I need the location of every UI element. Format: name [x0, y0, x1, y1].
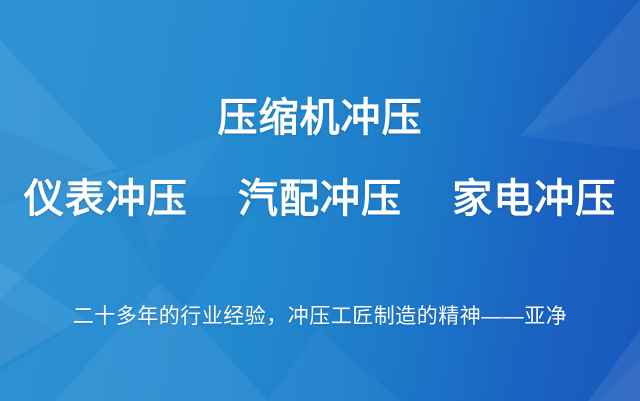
- banner-subline: 仪表冲压 汽配冲压 家电冲压: [0, 177, 640, 222]
- banner-tagline: 二十多年的行业经验，冲压工匠制造的精神——亚净: [0, 303, 640, 330]
- banner-content: 压缩机冲压 仪表冲压 汽配冲压 家电冲压 二十多年的行业经验，冲压工匠制造的精神…: [0, 0, 640, 401]
- subline-item-2: 汽配冲压: [238, 177, 402, 221]
- subline-item-1: 仪表冲压: [24, 177, 188, 221]
- banner-headline: 压缩机冲压: [0, 96, 640, 141]
- promo-banner: 压缩机冲压 仪表冲压 汽配冲压 家电冲压 二十多年的行业经验，冲压工匠制造的精神…: [0, 0, 640, 401]
- subline-item-3: 家电冲压: [452, 177, 616, 221]
